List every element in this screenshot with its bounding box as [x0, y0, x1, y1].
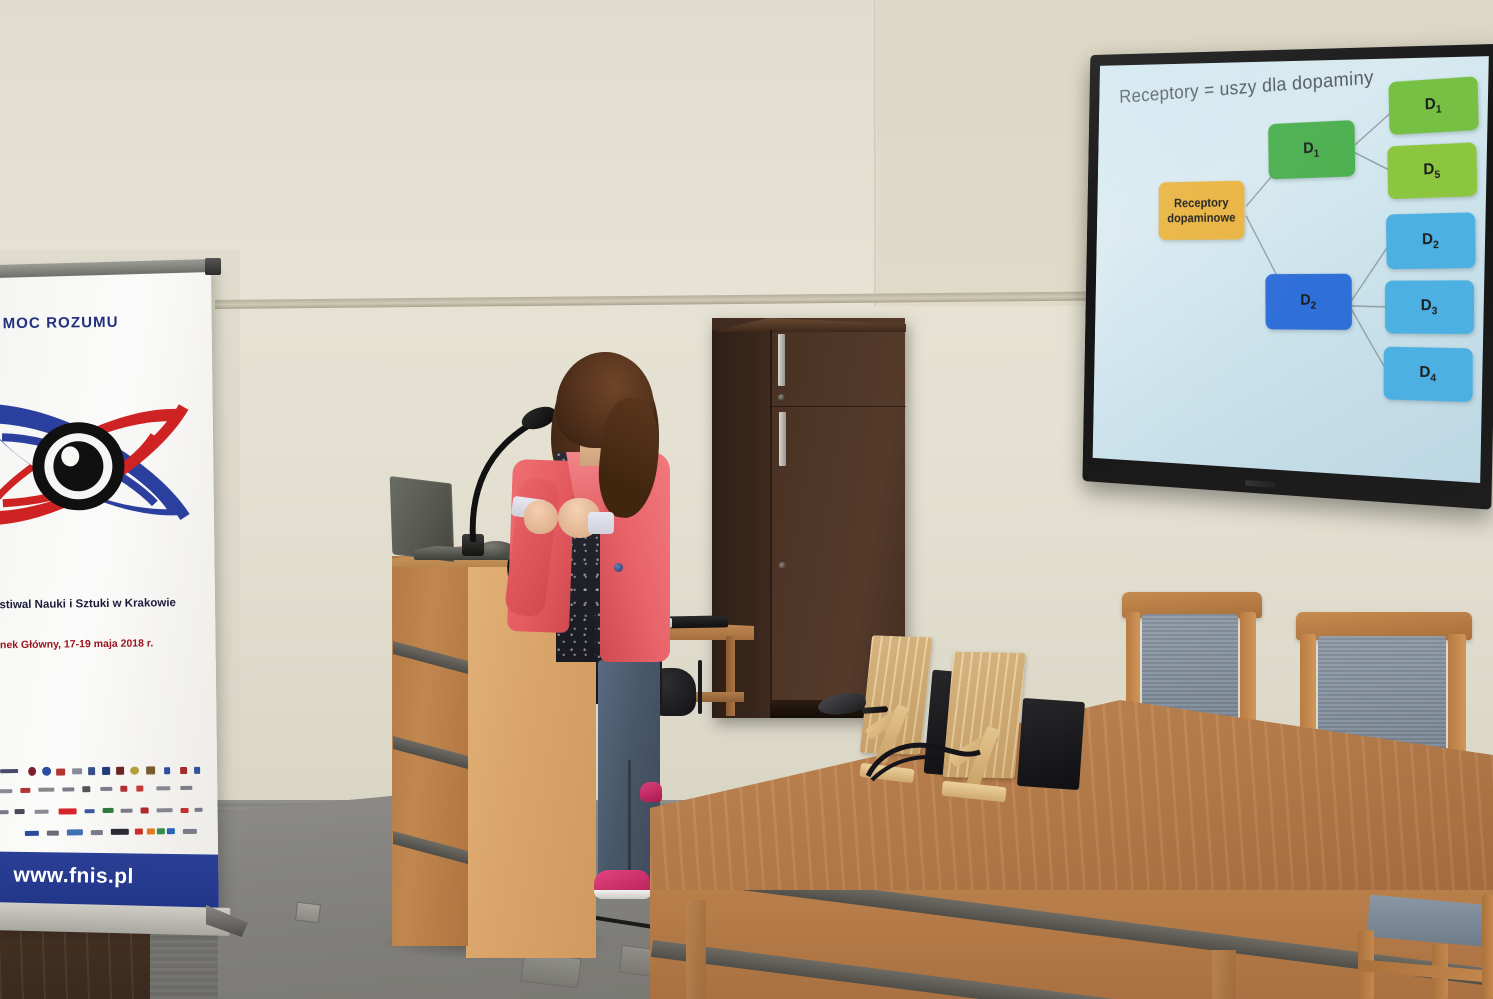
banner-url: www.fnis.pl	[13, 863, 213, 890]
cabinet-door-seam	[770, 406, 906, 407]
diagram-node-root: Receptory dopaminowe	[1159, 181, 1245, 240]
chair-stile	[1482, 895, 1493, 999]
node-label: D3	[1421, 297, 1438, 317]
node-label: D4	[1419, 364, 1436, 384]
rollup-banner: MOC ROZUMU Festiwal Nauki i Sztuki w Kra…	[0, 267, 219, 930]
speaker-lapel-pin	[614, 563, 623, 572]
speaker-shoe-sole	[594, 890, 652, 899]
diagram-node-branch-d2: D2	[1265, 274, 1352, 330]
cabinet-door-seam	[770, 330, 772, 718]
diagram-leaf-d2: D2	[1386, 212, 1476, 269]
conference-table-leg	[686, 900, 706, 999]
cabinet-side-panel	[712, 330, 770, 718]
speaker-shoe-right	[640, 782, 662, 802]
diagram-leaf-d1: D1	[1388, 76, 1478, 135]
node-label: Receptory dopaminowe	[1159, 195, 1245, 227]
cable	[698, 660, 702, 714]
eye-lens-logo	[0, 347, 200, 580]
speaker-jeans-seam	[628, 760, 631, 888]
banner-subtitle: Festiwal Nauki i Sztuki w Krakowie	[0, 597, 206, 612]
speaker-hand-left	[524, 500, 558, 534]
photo-scene: MOC ROZUMU Festiwal Nauki i Sztuki w Kra…	[0, 0, 1493, 999]
tablet-device[interactable]	[1017, 698, 1085, 790]
speaker-cuff-right	[588, 512, 614, 534]
diagram-leaf-d3: D3	[1385, 280, 1474, 334]
wall-display[interactable]: Receptory = uszy dla dopaminy Receptory …	[1082, 44, 1493, 510]
banner-title: MOC ROZUMU	[3, 313, 193, 332]
wall-corner-edge	[874, 0, 877, 320]
cabinet-handle[interactable]	[778, 334, 785, 386]
node-label: D2	[1422, 231, 1439, 251]
banner-rail-endcap	[205, 258, 221, 275]
floor-outlet	[295, 902, 321, 924]
cabinet-lock-knob[interactable]	[779, 562, 786, 569]
banner-date: Rynek Główny, 17-19 maja 2018 r.	[0, 637, 207, 652]
side-table-leg	[726, 636, 735, 716]
node-label: D2	[1300, 292, 1316, 311]
cabinet-handle[interactable]	[779, 412, 786, 466]
node-label: D1	[1303, 140, 1319, 160]
stand-cable	[860, 706, 990, 786]
cabinet-lock-knob[interactable]	[778, 394, 785, 401]
diagram-node-branch-d1: D1	[1268, 120, 1355, 179]
node-label: D5	[1423, 161, 1440, 182]
display-screen: Receptory = uszy dla dopaminy Receptory …	[1093, 56, 1489, 483]
conference-table-leg	[1212, 950, 1236, 999]
banner-base	[0, 902, 230, 936]
diagram-leaf-d5: D5	[1387, 142, 1477, 199]
diagram-leaf-d4: D4	[1384, 347, 1473, 402]
node-label: D1	[1425, 95, 1442, 116]
